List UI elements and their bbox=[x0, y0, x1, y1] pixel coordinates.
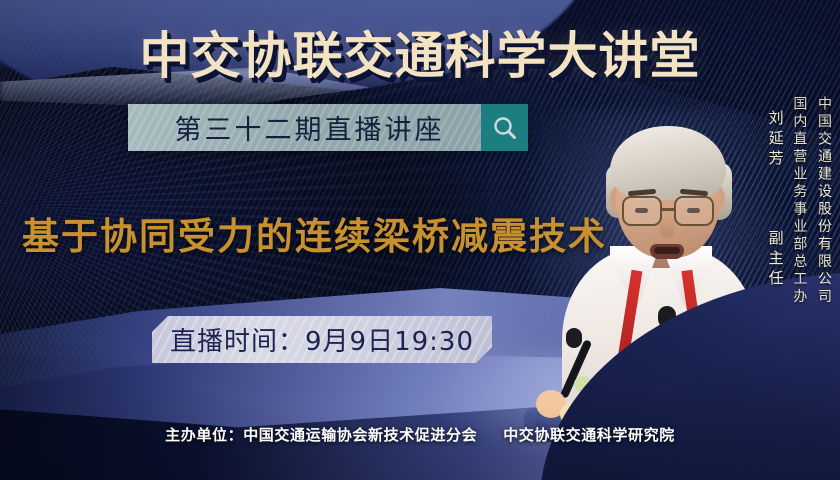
speaker-nose bbox=[660, 220, 674, 238]
microphone-head-side bbox=[566, 328, 582, 348]
webinar-poster: 中国交通建设股份有限公司 国内直营业务事业部总工办 刘延芳 副主任 中交协联交通… bbox=[0, 0, 840, 480]
live-time-badge: 直播时间：9月9日19:30 bbox=[152, 316, 492, 363]
footer-organizers: 主办单位：中国交通运输协会新技术促进分会中交协联交通科学研究院 bbox=[0, 424, 840, 445]
poster-title: 中交协联交通科学大讲堂 bbox=[0, 16, 840, 88]
footer-organizer-1: 中国交通运输协会新技术促进分会 bbox=[243, 427, 477, 444]
eyeglasses-bridge bbox=[662, 208, 674, 211]
speaker-company: 中国交通建设股份有限公司 bbox=[817, 96, 832, 306]
speaker-name: 刘延芳 bbox=[767, 110, 784, 170]
lecture-headline: 基于协同受力的连续梁桥减震技术 bbox=[22, 206, 607, 260]
speaker-mouth-inner bbox=[654, 247, 680, 254]
footer-organizer-2: 中交协联交通科学研究院 bbox=[503, 427, 675, 444]
search-icon[interactable] bbox=[481, 104, 528, 151]
footer-prefix: 主办单位： bbox=[165, 427, 243, 444]
subtitle-bar: 第三十二期直播讲座 bbox=[128, 104, 528, 151]
speaker-credits: 中国交通建设股份有限公司 国内直营业务事业部总工办 刘延芳 副主任 bbox=[767, 96, 832, 306]
speaker-role: 副主任 bbox=[767, 230, 784, 290]
subtitle-text: 第三十二期直播讲座 bbox=[128, 108, 481, 147]
speaker-department: 国内直营业务事业部总工办 bbox=[793, 96, 808, 306]
eyeglasses-left-lens bbox=[622, 196, 662, 226]
eyeglasses-right-lens bbox=[674, 196, 714, 226]
speaker-name-role: 刘延芳 副主任 bbox=[767, 110, 783, 290]
